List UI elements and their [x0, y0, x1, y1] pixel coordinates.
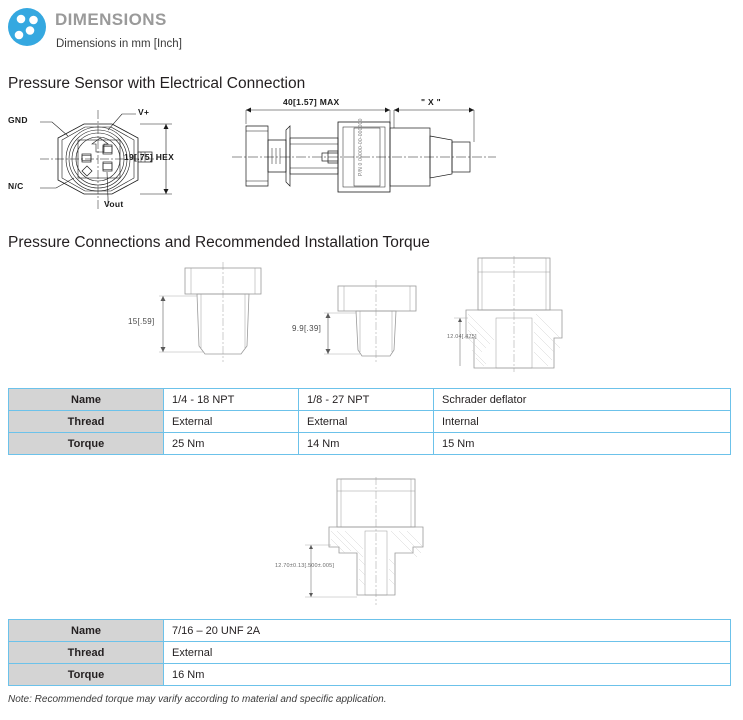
row-header-thread: Thread — [9, 411, 164, 433]
cell-torque-npt-1-8-27: 14 Nm — [299, 433, 434, 455]
label-gnd: GND — [8, 115, 28, 125]
cell-name-npt-1-8-27: 1/8 - 27 NPT — [299, 389, 434, 411]
fitting-drawing-npt-1-8-27: 9.9[.39] — [300, 272, 450, 372]
table-row: Name 1/4 - 18 NPT 1/8 - 27 NPT Schrader … — [9, 389, 731, 411]
fitting-drawing-unf: 12.70±0.13[.500±.005] — [275, 477, 465, 609]
cell-thread-npt-1-8-27: External — [299, 411, 434, 433]
table-unf-connection: Name 7/16 – 20 UNF 2A Thread External To… — [8, 619, 731, 686]
cell-name-schrader: Schrader deflator — [434, 389, 731, 411]
table-row: Torque 25 Nm 14 Nm 15 Nm — [9, 433, 731, 455]
cell-torque-npt-1-4-18: 25 Nm — [164, 433, 299, 455]
row-header-torque: Torque — [9, 433, 164, 455]
row-header-thread: Thread — [9, 642, 164, 664]
row-header-name: Name — [9, 389, 164, 411]
fitting-unf-svg — [275, 477, 465, 609]
label-vout: Vout — [104, 199, 123, 209]
row-header-torque: Torque — [9, 664, 164, 686]
table-row: Thread External External Internal — [9, 411, 731, 433]
section-heading-pressure-sensor: Pressure Sensor with Electrical Connecti… — [8, 75, 305, 93]
row-header-name: Name — [9, 620, 164, 642]
section-heading-pressure-connections: Pressure Connections and Recommended Ins… — [8, 234, 430, 252]
cell-thread-schrader: Internal — [434, 411, 731, 433]
label-vplus: V+ — [138, 107, 149, 117]
dimension-npt-1-8-27: 9.9[.39] — [292, 324, 321, 333]
cell-torque-schrader: 15 Nm — [434, 433, 731, 455]
cell-name-unf: 7/16 – 20 UNF 2A — [164, 620, 731, 642]
label-nc: N/C — [8, 181, 24, 191]
sensor-side-view-drawing: 40[1.57] MAX " X " P/N 0 00000-00-000000 — [228, 98, 503, 218]
dimensions-dots-icon — [8, 8, 46, 46]
dimension-npt-1-4-18: 15[.59] — [128, 317, 155, 326]
page-title: DIMENSIONS — [55, 10, 167, 30]
cell-thread-npt-1-4-18: External — [164, 411, 299, 433]
units-subtitle: Dimensions in mm [Inch] — [56, 38, 182, 50]
table-row: Torque 16 Nm — [9, 664, 731, 686]
table-row: Thread External — [9, 642, 731, 664]
fitting-schrader-svg — [450, 256, 590, 372]
sensor-side-view-svg — [228, 98, 503, 218]
dimensions-header: DIMENSIONS Dimensions in mm [Inch] — [0, 0, 743, 66]
table-pressure-connections: Name 1/4 - 18 NPT 1/8 - 27 NPT Schrader … — [8, 388, 731, 455]
fitting-drawing-npt-1-4-18: 15[.59] — [133, 260, 293, 370]
footer-note: Note: Recommended torque may varify acco… — [8, 694, 387, 705]
dimension-x: " X " — [421, 97, 441, 107]
cell-torque-unf: 16 Nm — [164, 664, 731, 686]
fitting-npt-1-8-27-svg — [300, 272, 450, 372]
cell-name-npt-1-4-18: 1/4 - 18 NPT — [164, 389, 299, 411]
cell-thread-unf: External — [164, 642, 731, 664]
dimension-schrader: 12.04[.475] — [447, 334, 477, 340]
dimension-length: 40[1.57] MAX — [283, 97, 340, 107]
table-row: Name 7/16 – 20 UNF 2A — [9, 620, 731, 642]
product-label-text: P/N 0 00000-00-000000 — [358, 118, 364, 176]
dimension-hex: 19[.75] HEX — [124, 152, 174, 162]
sensor-front-view-drawing: GND N/C V+ Vout 19[.75] HEX — [0, 100, 200, 218]
fitting-npt-1-4-18-svg — [133, 260, 293, 370]
fitting-drawing-schrader: 12.04[.475] — [450, 256, 590, 372]
dimension-unf: 12.70±0.13[.500±.005] — [275, 563, 334, 569]
